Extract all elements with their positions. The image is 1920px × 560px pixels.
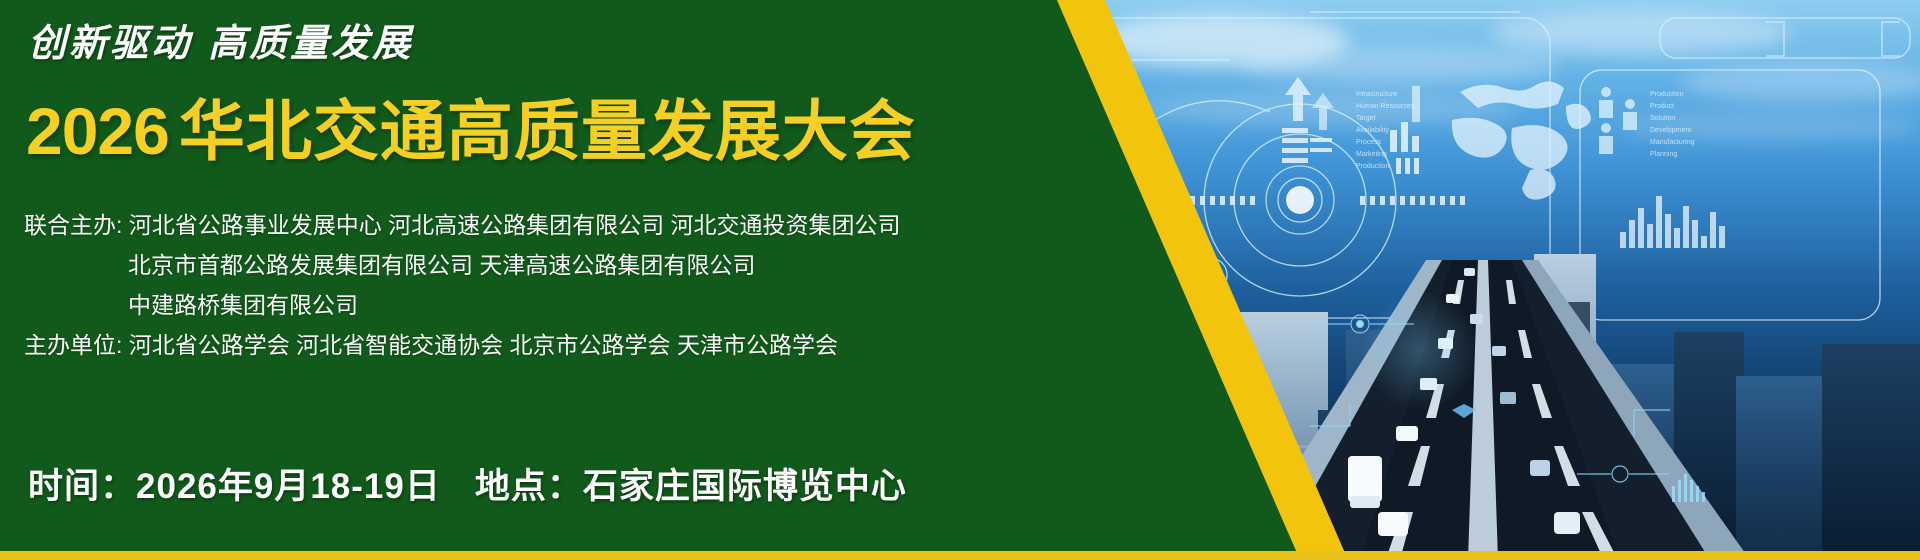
organizer-line: 中建路桥集团有限公司	[24, 285, 1024, 325]
organizer-line: 主办单位: 河北省公路学会 河北省智能交通协会 北京市公路学会 天津市公路学会	[24, 325, 1024, 365]
organizer-line: 联合主办: 河北省公路事业发展中心 河北高速公路集团有限公司 河北交通投资集团公…	[24, 205, 1024, 245]
title-main: 华北交通高质量发展大会	[179, 94, 916, 168]
organizers-block: 联合主办: 河北省公路事业发展中心 河北高速公路集团有限公司 河北交通投资集团公…	[24, 205, 1024, 365]
place-label: 地点：	[475, 467, 583, 506]
conference-banner: Infrastructure Human Resources Target Av…	[0, 0, 1920, 560]
time-label: 时间：	[28, 467, 136, 506]
event-details-line: 时间：2026年9月18-19日地点：石家庄国际博览中心	[28, 458, 907, 509]
page-title: 2026华北交通高质量发展大会	[26, 78, 916, 174]
banner-content: 创新驱动 高质量发展 2026华北交通高质量发展大会 联合主办: 河北省公路事业…	[0, 0, 1920, 560]
title-year: 2026	[26, 94, 169, 168]
slogan-text: 创新驱动 高质量发展	[28, 12, 413, 67]
time-value: 2026年9月18-19日	[136, 467, 441, 506]
place-value: 石家庄国际博览中心	[583, 467, 907, 506]
organizer-line: 北京市首都公路发展集团有限公司 天津高速公路集团有限公司	[24, 245, 1024, 285]
